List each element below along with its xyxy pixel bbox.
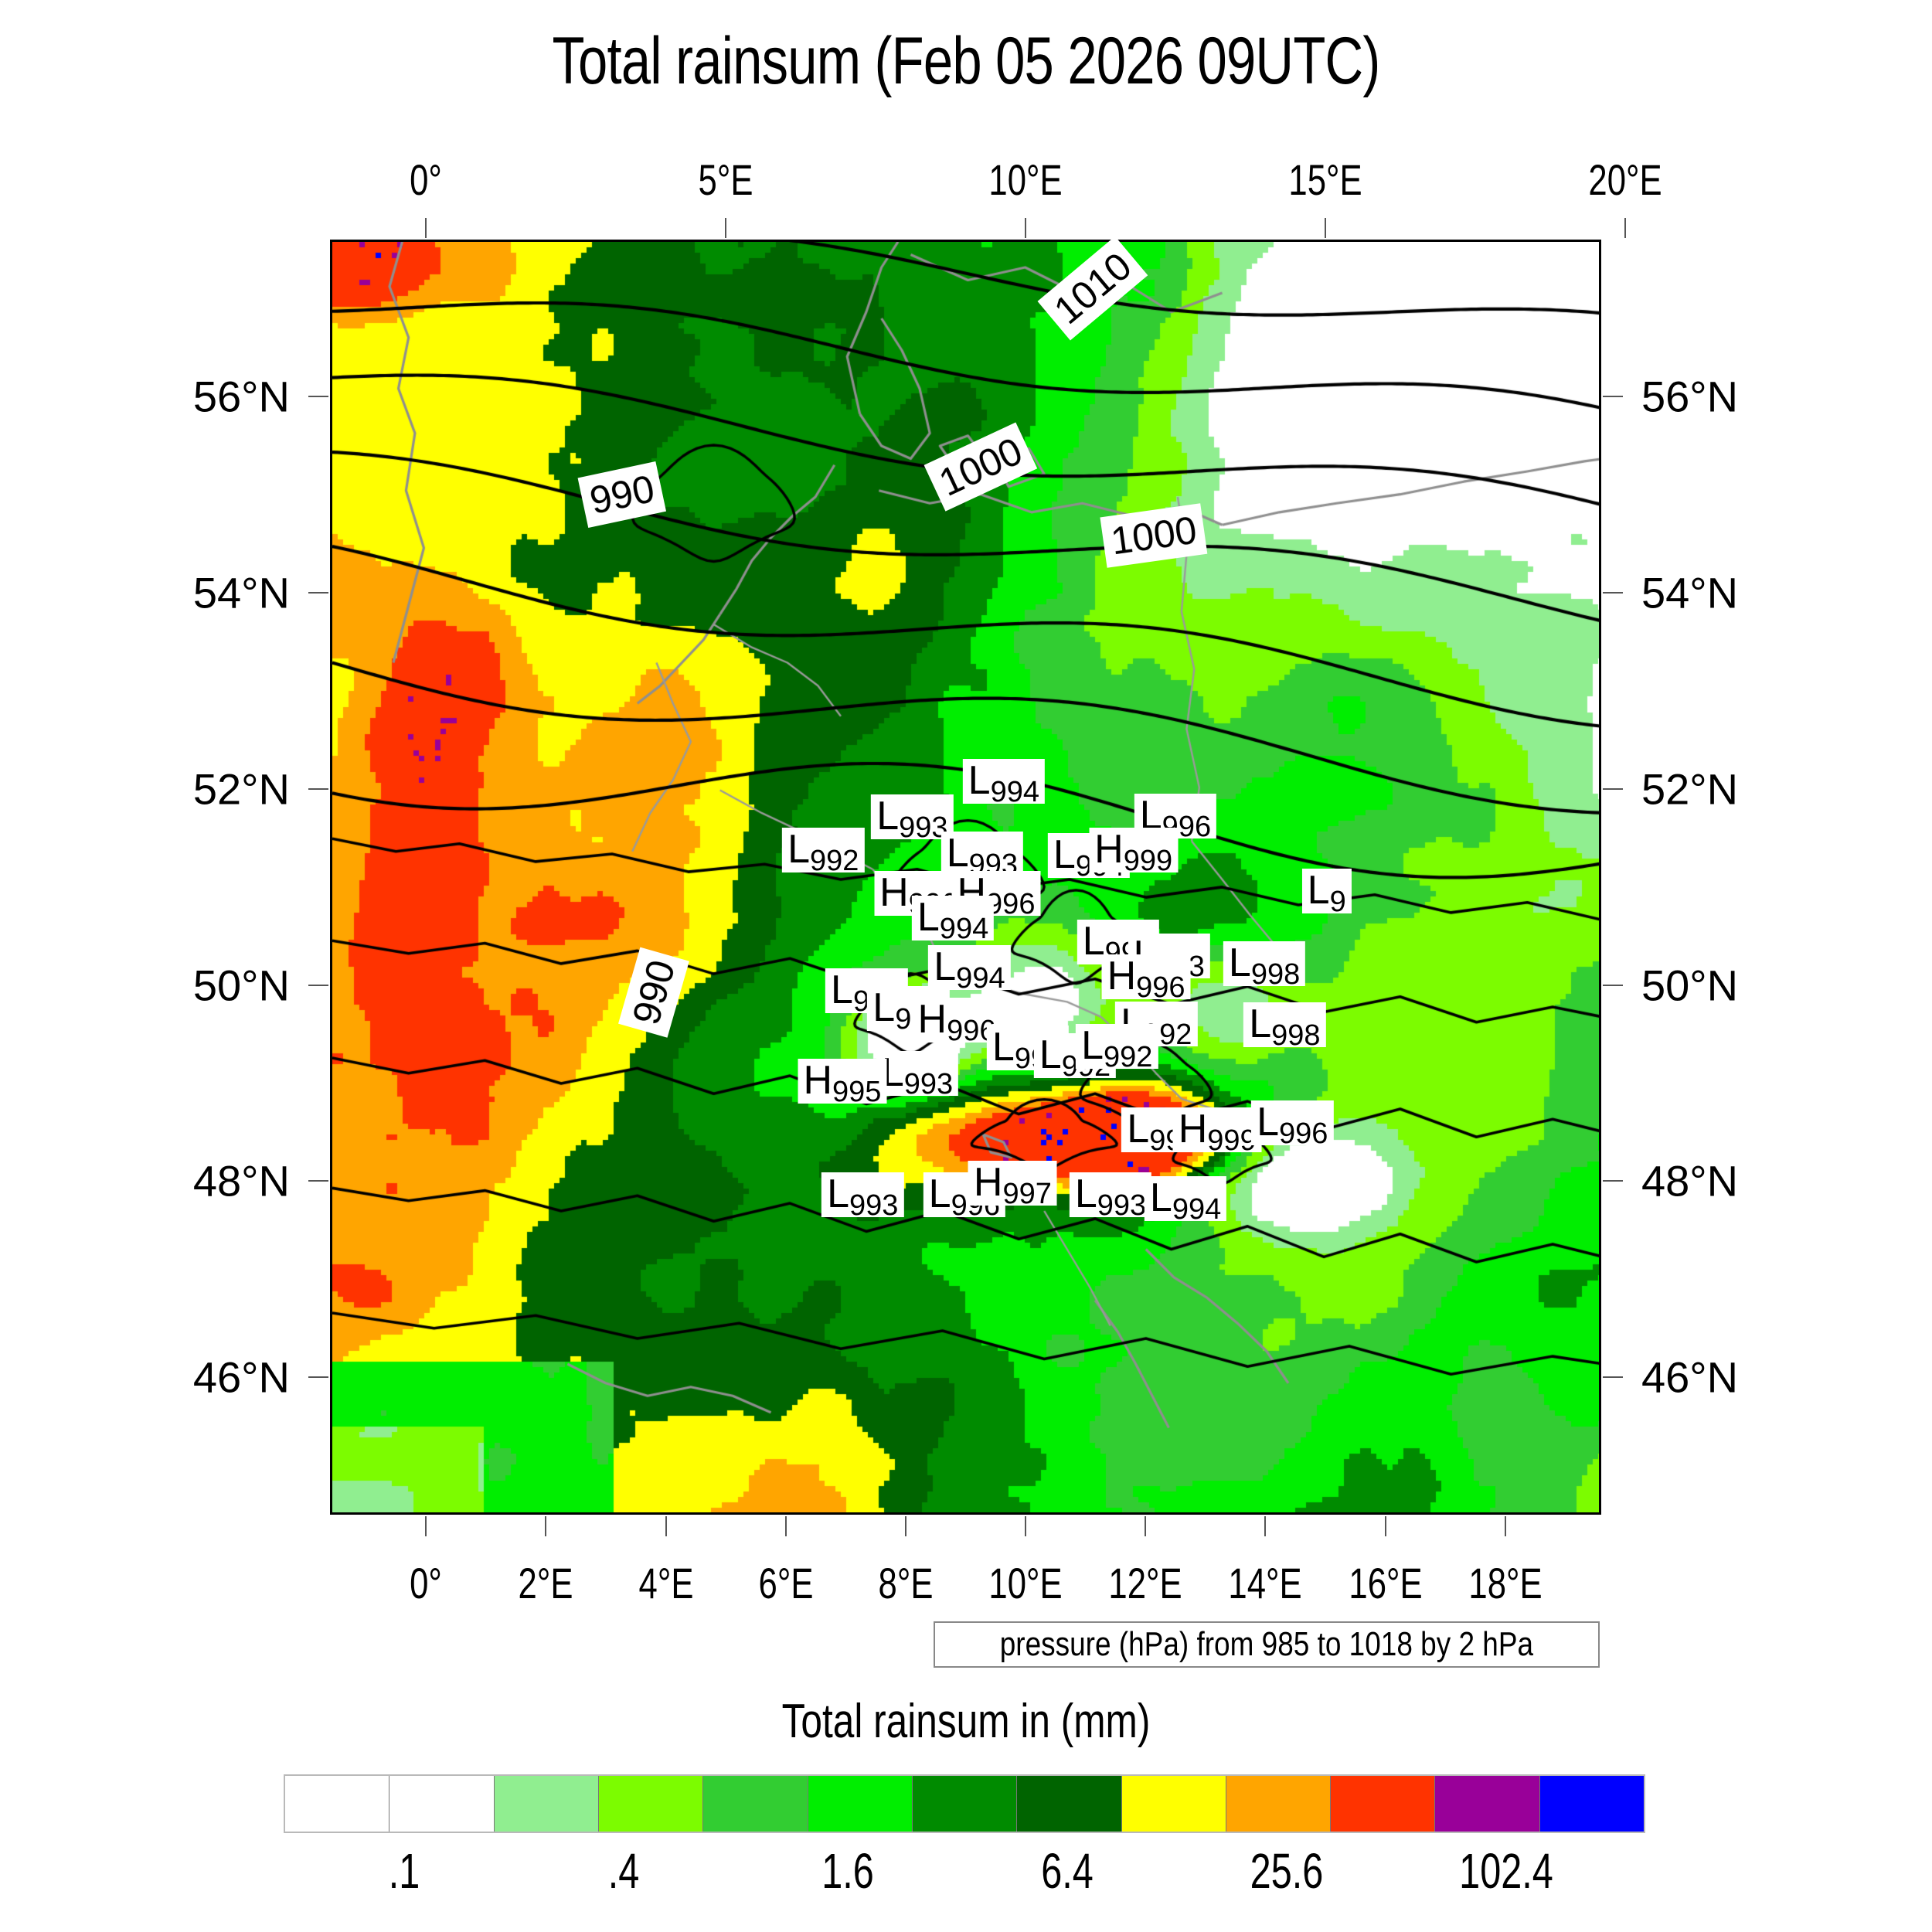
pressure-center-h-15: H996 <box>1102 954 1191 999</box>
pressure-center-type: L <box>1053 832 1076 877</box>
axis-label-right: 50°N <box>1641 960 1738 1010</box>
colorbar-segment-8[interactable] <box>1122 1776 1226 1832</box>
pressure-center-l-9: L994 <box>912 896 994 940</box>
pressure-center-value: 998 <box>1251 958 1300 991</box>
colorbar-label-3: 6.4 <box>1041 1842 1094 1900</box>
axis-label-left: 48°N <box>193 1156 290 1206</box>
axis-label-bottom: 2°E <box>519 1558 573 1608</box>
pressure-center-type: L <box>929 1172 951 1216</box>
tick-bottom <box>545 1516 546 1536</box>
colorbar-segment-12[interactable] <box>1540 1776 1644 1832</box>
axis-label-bottom: 18°E <box>1468 1558 1542 1608</box>
pressure-center-value: 999 <box>1207 1124 1256 1157</box>
pressure-center-type: L <box>872 985 895 1030</box>
tick-left <box>308 592 328 594</box>
pressure-center-value: 992 <box>1104 1041 1152 1073</box>
pressure-center-value: 994 <box>1172 1193 1221 1226</box>
tick-top <box>1325 218 1326 238</box>
colorbar-segment-1[interactable] <box>389 1776 494 1832</box>
pressure-center-type: L <box>934 944 956 989</box>
colorbar-segment-6[interactable] <box>913 1776 1017 1832</box>
pressure-center-type: L <box>1039 1032 1062 1077</box>
pressure-center-value: 992 <box>810 845 859 877</box>
pressure-center-l-23: L992 <box>1076 1024 1158 1069</box>
axis-label-bottom: 6°E <box>758 1558 813 1608</box>
pressure-center-type: L <box>917 895 940 940</box>
pressure-center-value: 996 <box>1136 971 1185 1004</box>
colorbar-label-0: .1 <box>388 1842 420 1900</box>
axis-label-right: 48°N <box>1641 1156 1738 1206</box>
axis-label-left: 52°N <box>193 764 290 814</box>
pressure-center-value: 993 <box>849 1189 898 1222</box>
pressure-center-value: 996 <box>1279 1117 1328 1150</box>
tick-bottom <box>1264 1516 1266 1536</box>
pressure-center-value: 993 <box>904 1068 953 1100</box>
pressure-center-type: L <box>787 827 810 872</box>
colorbar-segment-9[interactable] <box>1226 1776 1331 1832</box>
axis-label-left: 54°N <box>193 567 290 617</box>
pressure-center-value: 994 <box>991 776 1039 808</box>
pressure-center-l-19: L998 <box>1243 1002 1325 1047</box>
colorbar-label-2: 1.6 <box>821 1842 874 1900</box>
tick-left <box>308 396 328 397</box>
pressure-center-type: H <box>918 997 947 1042</box>
tick-top <box>1624 218 1626 238</box>
pressure-center-type: L <box>968 758 991 803</box>
pressure-center-type: L <box>1249 1002 1271 1046</box>
colorbar-segment-7[interactable] <box>1017 1776 1121 1832</box>
axis-label-left: 56°N <box>193 372 290 422</box>
axis-label-top: 15°E <box>1288 155 1362 205</box>
pressure-legend-text: pressure (hPa) from 985 to 1018 by 2 hPa <box>1000 1625 1533 1664</box>
pressure-center-type: L <box>947 831 969 876</box>
tick-right <box>1603 1376 1623 1378</box>
tick-right <box>1603 592 1623 594</box>
pressure-center-l-28: L996 <box>1251 1100 1333 1145</box>
page-title: Total rainsum (Feb 05 2026 09UTC) <box>193 23 1739 100</box>
colorbar-segment-2[interactable] <box>495 1776 599 1832</box>
pressure-center-type: L <box>876 794 899 838</box>
axis-label-bottom: 10°E <box>988 1558 1062 1608</box>
colorbar-segment-3[interactable] <box>599 1776 703 1832</box>
tick-right <box>1603 1180 1623 1182</box>
axis-label-bottom: 14°E <box>1229 1558 1302 1608</box>
pressure-center-value: 993 <box>1097 1189 1146 1222</box>
tick-bottom <box>1505 1516 1506 1536</box>
pressure-center-value: 994 <box>956 962 1005 995</box>
tick-top <box>725 218 726 238</box>
axis-label-top: 20°E <box>1588 155 1662 205</box>
tick-bottom <box>905 1516 906 1536</box>
pressure-center-l-33: L994 <box>1145 1176 1226 1221</box>
tick-bottom <box>1025 1516 1026 1536</box>
colorbar-label-5: 102.4 <box>1459 1842 1553 1900</box>
pressure-center-value: 998 <box>1271 1019 1320 1052</box>
axis-label-top: 10°E <box>988 155 1062 205</box>
axis-label-right: 46°N <box>1641 1352 1738 1403</box>
pressure-center-type: L <box>1081 1023 1104 1068</box>
axis-label-bottom: 12°E <box>1109 1558 1182 1608</box>
axis-label-bottom: 4°E <box>638 1558 693 1608</box>
colorbar-segment-4[interactable] <box>703 1776 808 1832</box>
tick-right <box>1603 985 1623 986</box>
tick-top <box>425 218 427 238</box>
pressure-center-type: L <box>1308 868 1330 913</box>
colorbar-segment-11[interactable] <box>1435 1776 1539 1832</box>
colorbar-segment-5[interactable] <box>808 1776 913 1832</box>
colorbar-label-4: 25.6 <box>1250 1842 1324 1900</box>
colorbar-title-text: Total rainsum in (mm) <box>782 1694 1151 1749</box>
pressure-center-type: L <box>831 968 853 1012</box>
pressure-center-h-31: H997 <box>968 1161 1057 1206</box>
tick-bottom <box>1385 1516 1386 1536</box>
pressure-center-l-3: L992 <box>782 828 864 872</box>
axis-label-top: 5°E <box>699 155 753 205</box>
tick-bottom <box>785 1516 787 1536</box>
pressure-legend-box: pressure (hPa) from 985 to 1018 by 2 hPa <box>934 1621 1600 1668</box>
axis-label-bottom: 8°E <box>878 1558 933 1608</box>
map-panel[interactable]: L994L993L996L992L993L994H999H996H996L994… <box>330 240 1601 1515</box>
pressure-center-value: 997 <box>1002 1178 1051 1210</box>
pressure-center-type: H <box>1107 954 1137 998</box>
pressure-center-l-13: L998 <box>1223 941 1305 986</box>
tick-top <box>1025 218 1026 238</box>
tick-left <box>308 985 328 986</box>
pressure-center-type: L <box>1075 1172 1097 1216</box>
pressure-center-type: L <box>1257 1100 1279 1145</box>
pressure-center-value: 999 <box>1124 845 1172 877</box>
pressure-center-l-24: L993 <box>876 1051 958 1096</box>
pressure-center-type: L <box>1150 1175 1172 1220</box>
pressure-center-l-0: L994 <box>963 759 1045 804</box>
tick-left <box>308 1180 328 1182</box>
pressure-center-type: H <box>1094 827 1124 872</box>
pressure-center-value: 994 <box>940 913 988 945</box>
colorbar[interactable] <box>284 1774 1645 1833</box>
axis-label-right: 54°N <box>1641 567 1738 617</box>
axis-label-right: 52°N <box>1641 764 1738 814</box>
axis-label-bottom: 0° <box>410 1558 442 1608</box>
tick-right <box>1603 788 1623 790</box>
tick-bottom <box>665 1516 667 1536</box>
pressure-center-type: H <box>974 1160 1003 1205</box>
pressure-center-type: H <box>879 870 909 915</box>
tick-left <box>308 1376 328 1378</box>
colorbar-title: Total rainsum in (mm) <box>0 1694 1932 1749</box>
tick-bottom <box>425 1516 427 1536</box>
pressure-center-l-10: L9 <box>1302 869 1352 913</box>
pressure-center-value: 9 <box>1330 886 1346 918</box>
pressure-center-type: H <box>1179 1107 1208 1151</box>
colorbar-segment-10[interactable] <box>1331 1776 1435 1832</box>
axis-label-left: 50°N <box>193 960 290 1010</box>
pressure-center-type: L <box>992 1025 1015 1070</box>
pressure-center-type: L <box>1127 1107 1149 1151</box>
pressure-center-h-6: H999 <box>1089 828 1178 872</box>
pressure-center-l-32: L993 <box>1070 1172 1151 1217</box>
axis-label-left: 46°N <box>193 1352 290 1403</box>
pressure-center-h-25: H995 <box>798 1059 886 1104</box>
tick-left <box>308 788 328 790</box>
pressure-center-type: H <box>803 1058 832 1103</box>
tick-bottom <box>1145 1516 1146 1536</box>
tick-right <box>1603 396 1623 397</box>
colorbar-segment-0[interactable] <box>285 1776 389 1832</box>
colorbar-label-1: .4 <box>607 1842 639 1900</box>
pressure-center-l-14: L994 <box>928 945 1010 990</box>
colorbar-tick-labels: .1.41.66.425.6102.4 <box>284 1842 1642 1912</box>
pressure-center-type: L <box>827 1172 849 1216</box>
axis-label-top: 0° <box>410 155 442 205</box>
axis-label-bottom: 16°E <box>1349 1558 1422 1608</box>
pressure-center-type: L <box>1229 940 1251 985</box>
pressure-center-value: 995 <box>832 1076 881 1108</box>
axis-label-right: 56°N <box>1641 372 1738 422</box>
pressure-center-l-29: L993 <box>821 1172 903 1217</box>
pressure-center-h-27: H999 <box>1173 1107 1262 1152</box>
